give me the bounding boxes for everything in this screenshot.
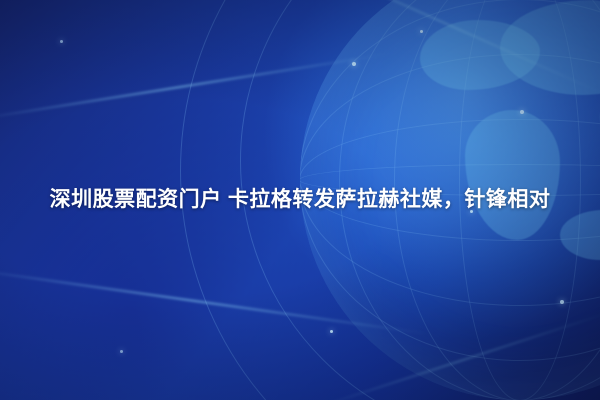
banner-title-container: 深圳股票配资门户 卡拉格转发萨拉赫社媒，针锋相对 (0, 0, 600, 400)
banner: 深圳股票配资门户 卡拉格转发萨拉赫社媒，针锋相对 (0, 0, 600, 400)
banner-title: 深圳股票配资门户 卡拉格转发萨拉赫社媒，针锋相对 (50, 182, 551, 218)
